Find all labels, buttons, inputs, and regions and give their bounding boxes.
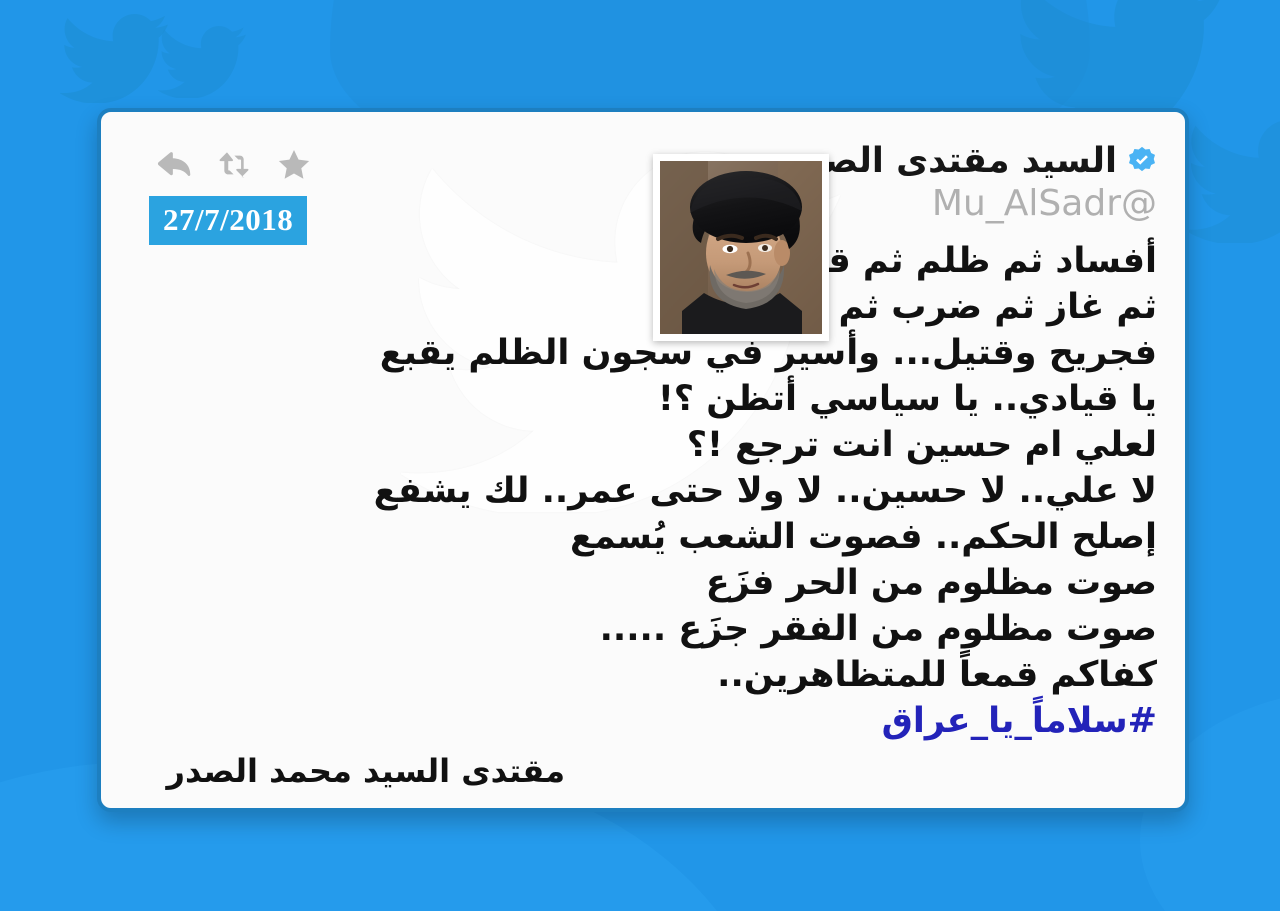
tweet-actions [157,150,311,180]
display-name-row: السيد مقتدى الصدر [517,142,1157,181]
tweet-card-image: 27/7/2018 [0,0,1280,911]
twitter-bird-icon [60,14,168,103]
retweet-icon[interactable] [217,150,251,180]
tweet-line: ثم غاز ثم ضرب ثم يتبع [137,284,1157,330]
tweet-line: أفساد ثم ظلم ثم قمع [137,238,1157,284]
favorite-star-icon[interactable] [277,150,311,180]
tweet-line: يا قيادي.. يا سياسي أتظن ؟! [137,376,1157,422]
tweet-card: 27/7/2018 [97,108,1189,812]
tweet-line: فجريح وقتيل... وأسير في سجون الظلم يقبع [137,330,1157,376]
twitter-bird-icon [158,26,246,98]
tweet-line: إصلح الحكم.. فصوت الشعب يُسمع [137,514,1157,560]
signature: مقتدى السيد محمد الصدر [167,752,565,790]
profile-photo [660,161,822,334]
display-name: السيد مقتدى الصدر [784,142,1117,181]
twitter-bird-icon [1185,120,1280,243]
profile-identity: السيد مقتدى الصدر Mu_AlSadr@ [517,142,1157,224]
hashtag-link[interactable]: #سلاماً_يا_عراق [137,698,1157,744]
avatar [653,154,829,341]
tweet-line: لعلي ام حسين انت ترجع !؟ [137,422,1157,468]
tweet-line: لا علي.. لا حسين.. لا ولا حتى عمر.. لك ي… [137,468,1157,514]
tweet-text: أفساد ثم ظلم ثم قمع ثم غاز ثم ضرب ثم يتب… [137,238,1157,744]
reply-icon[interactable] [157,150,191,180]
tweet-line: كفاكم قمعاً للمتظاهرين.. [137,652,1157,698]
profile-handle: Mu_AlSadr@ [517,183,1157,224]
verified-badge-icon [1127,146,1157,176]
tweet-line: صوت مظلوم من الحر فزَع [137,560,1157,606]
tweet-line: صوت مظلوم من الفقر جزَع ..... [137,606,1157,652]
